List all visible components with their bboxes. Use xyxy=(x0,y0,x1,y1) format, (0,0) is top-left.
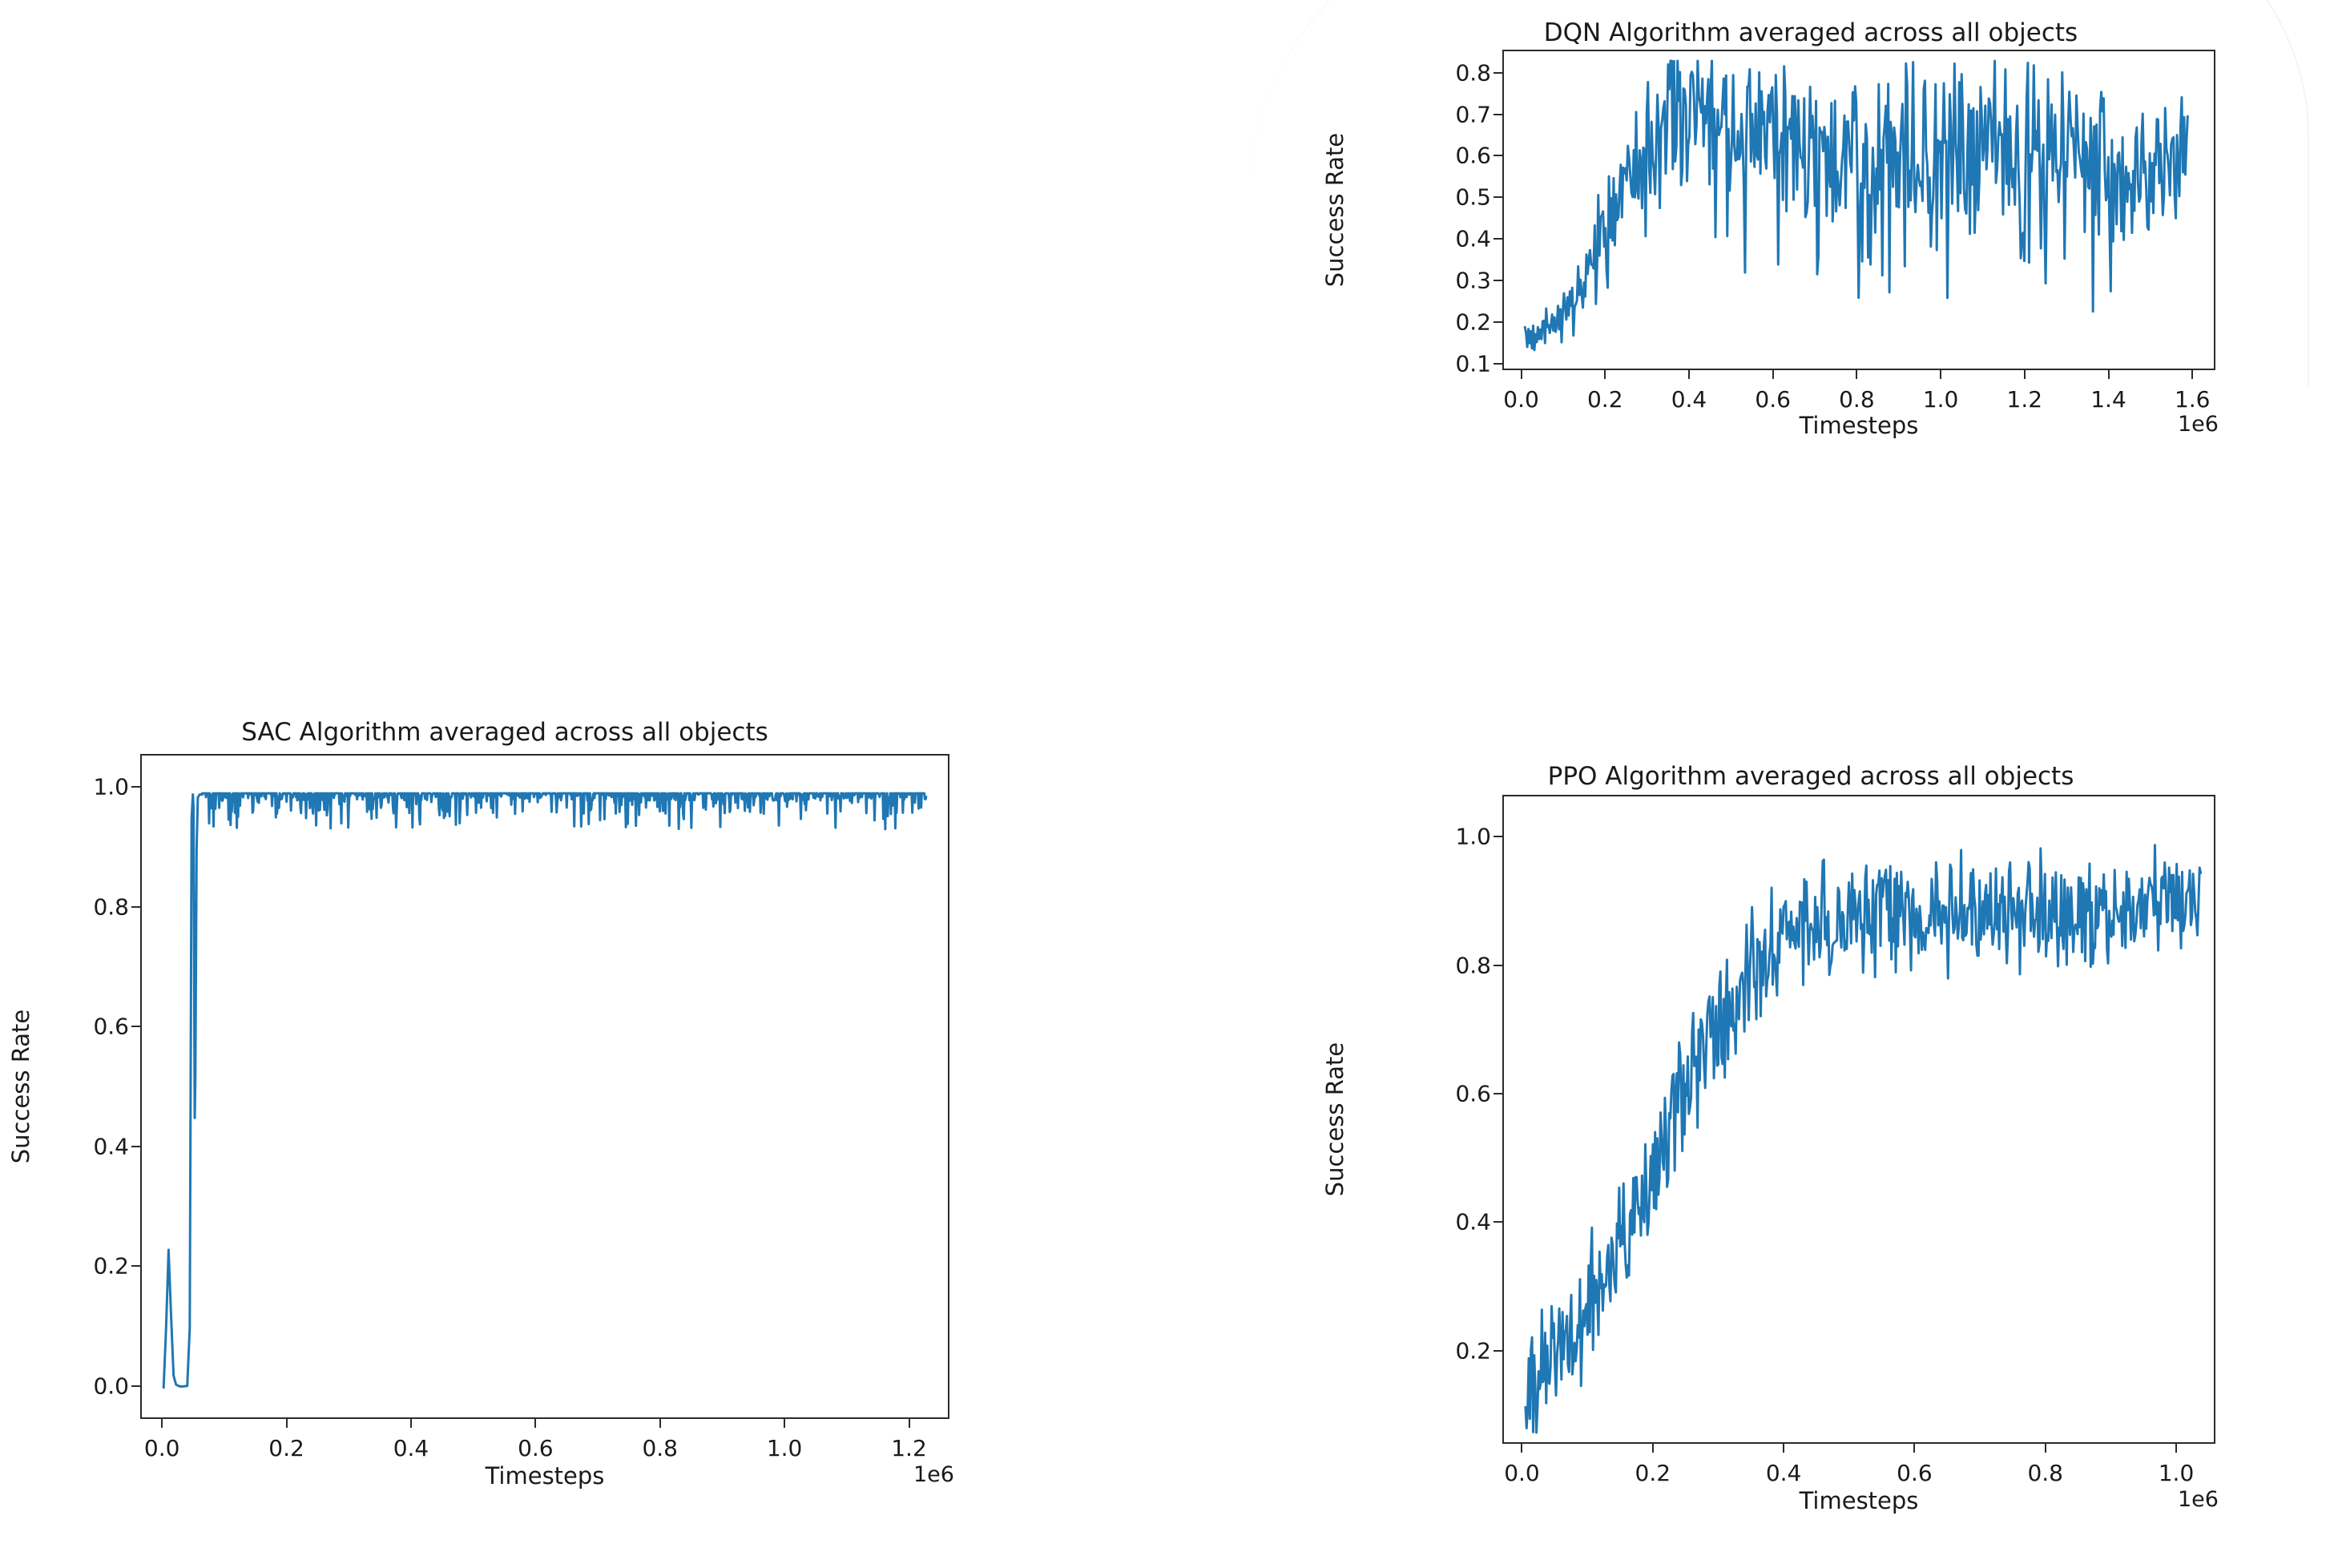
series-line-sac xyxy=(142,756,949,1419)
x-tick-label: 0.0 xyxy=(1504,1460,1540,1486)
x-tick-label: 1.6 xyxy=(2175,386,2211,413)
x-tick-mark xyxy=(1604,370,1606,379)
x-axis-offset-dqn: 1e6 xyxy=(2178,412,2219,437)
y-tick-label: 0.7 xyxy=(1455,101,1491,127)
x-tick-mark xyxy=(534,1419,536,1428)
x-tick-label: 0.2 xyxy=(268,1435,304,1461)
y-tick-label: 0.2 xyxy=(1455,309,1491,336)
y-tick-mark xyxy=(1494,1221,1502,1223)
y-tick-label: 0.4 xyxy=(93,1133,129,1159)
chart-title-ppo: PPO Algorithm averaged across all object… xyxy=(1338,761,2284,789)
x-tick-mark xyxy=(1688,370,1690,379)
x-axis-label-sac: Timesteps xyxy=(140,1462,949,1489)
x-axis-offset-ppo: 1e6 xyxy=(2178,1487,2219,1512)
x-tick-mark xyxy=(1521,1444,1522,1453)
y-axis-label-ppo: Success Rate xyxy=(1319,795,1351,1444)
y-axis-label-sac: Success Rate xyxy=(5,754,37,1419)
y-axis-ticks-ppo: 0.20.40.60.81.0 xyxy=(1414,795,1502,1444)
y-tick-mark xyxy=(1494,196,1502,198)
x-tick-label: 1.4 xyxy=(2090,386,2126,413)
x-tick-label: 0.6 xyxy=(1897,1460,1933,1486)
x-tick-mark xyxy=(286,1419,288,1428)
x-tick-label: 0.8 xyxy=(1839,386,1875,413)
y-axis-label-dqn: Success Rate xyxy=(1319,50,1351,370)
x-tick-label: 0.0 xyxy=(144,1435,180,1461)
y-tick-label: 0.3 xyxy=(1455,268,1491,294)
y-tick-mark xyxy=(131,1265,140,1267)
y-tick-mark xyxy=(1494,363,1502,365)
y-tick-mark xyxy=(131,786,140,788)
y-tick-mark xyxy=(1494,72,1502,74)
x-tick-mark xyxy=(2191,370,2193,379)
axes-ppo xyxy=(1502,795,2215,1444)
y-tick-mark xyxy=(131,1385,140,1387)
y-axis-ticks-sac: 0.00.20.40.60.81.0 xyxy=(52,754,140,1419)
y-tick-mark xyxy=(131,1026,140,1027)
x-tick-mark xyxy=(1913,1444,1915,1453)
y-tick-mark xyxy=(1494,836,1502,837)
x-tick-mark xyxy=(659,1419,661,1428)
y-tick-label: 0.6 xyxy=(1455,1080,1491,1106)
chart-panel-dqn: DQN Algorithm averaged across all object… xyxy=(1314,18,2259,402)
x-tick-label: 0.6 xyxy=(518,1435,554,1461)
x-tick-mark xyxy=(161,1419,163,1428)
series-line-dqn xyxy=(1504,51,2215,370)
x-tick-label: 0.8 xyxy=(2027,1460,2063,1486)
y-tick-mark xyxy=(1494,155,1502,156)
y-tick-mark xyxy=(1494,1350,1502,1352)
y-tick-label: 0.4 xyxy=(1455,226,1491,252)
y-tick-mark xyxy=(1494,965,1502,966)
x-tick-label: 0.4 xyxy=(1766,1460,1802,1486)
x-tick-label: 0.6 xyxy=(1755,386,1791,413)
x-tick-mark xyxy=(1783,1444,1784,1453)
y-tick-mark xyxy=(1494,238,1502,240)
y-tick-label: 0.1 xyxy=(1455,351,1491,377)
y-tick-label: 0.8 xyxy=(93,893,129,920)
plot-area-dqn: Success Rate 0.10.20.30.40.50.60.70.8 0.… xyxy=(1314,50,2259,402)
x-tick-label: 0.4 xyxy=(393,1435,429,1461)
chart-title-sac: SAC Algorithm averaged across all object… xyxy=(32,717,978,745)
y-tick-label: 0.4 xyxy=(1455,1209,1491,1235)
x-tick-label: 1.2 xyxy=(891,1435,927,1461)
y-tick-label: 1.0 xyxy=(93,774,129,800)
x-tick-mark xyxy=(1772,370,1774,379)
x-axis-label-dqn: Timesteps xyxy=(1502,412,2215,439)
x-tick-mark xyxy=(1521,370,1522,379)
y-tick-label: 0.6 xyxy=(93,1014,129,1040)
x-tick-label: 1.0 xyxy=(2159,1460,2195,1486)
x-tick-label: 0.2 xyxy=(1635,1460,1671,1486)
y-tick-label: 0.8 xyxy=(1455,59,1491,86)
x-tick-label: 1.2 xyxy=(2007,386,2043,413)
y-tick-mark xyxy=(1494,114,1502,115)
y-tick-label: 0.2 xyxy=(1455,1337,1491,1364)
x-tick-mark xyxy=(2024,370,2026,379)
x-tick-mark xyxy=(1652,1444,1654,1453)
x-tick-label: 0.8 xyxy=(642,1435,678,1461)
x-axis-label-ppo: Timesteps xyxy=(1502,1487,2215,1514)
x-tick-mark xyxy=(909,1419,910,1428)
y-tick-label: 0.5 xyxy=(1455,184,1491,211)
chart-panel-ppo: PPO Algorithm averaged across all object… xyxy=(1314,761,2259,1562)
x-tick-label: 1.0 xyxy=(767,1435,803,1461)
y-tick-label: 0.0 xyxy=(93,1373,129,1399)
x-axis-offset-sac: 1e6 xyxy=(913,1462,954,1487)
x-tick-label: 1.0 xyxy=(1923,386,1959,413)
y-tick-label: 1.0 xyxy=(1455,824,1491,850)
y-tick-mark xyxy=(1494,321,1502,323)
plot-area-sac: Success Rate 0.00.20.40.60.81.0 0.00.20.… xyxy=(0,754,1074,1491)
x-tick-mark xyxy=(2175,1444,2177,1453)
y-axis-ticks-dqn: 0.10.20.30.40.50.60.70.8 xyxy=(1414,50,1502,370)
y-tick-mark xyxy=(1494,280,1502,281)
y-tick-label: 0.6 xyxy=(1455,143,1491,169)
y-tick-label: 0.8 xyxy=(1455,952,1491,978)
x-tick-mark xyxy=(1856,370,1857,379)
x-tick-label: 0.4 xyxy=(1671,386,1707,413)
chart-panel-sac: SAC Algorithm averaged across all object… xyxy=(0,717,1074,1518)
x-tick-mark xyxy=(2045,1444,2046,1453)
y-tick-mark xyxy=(131,1146,140,1147)
x-tick-mark xyxy=(784,1419,785,1428)
x-tick-label: 0.2 xyxy=(1587,386,1623,413)
y-tick-mark xyxy=(1494,1093,1502,1094)
x-tick-mark xyxy=(2108,370,2110,379)
x-tick-label: 0.0 xyxy=(1503,386,1539,413)
axes-sac xyxy=(140,754,949,1419)
y-tick-label: 0.2 xyxy=(93,1253,129,1280)
plot-area-ppo: Success Rate 0.20.40.60.81.0 0.00.20.40.… xyxy=(1314,795,2259,1516)
series-line-ppo xyxy=(1504,796,2215,1444)
y-tick-mark xyxy=(131,906,140,908)
axes-dqn xyxy=(1502,50,2215,370)
x-tick-mark xyxy=(1940,370,1941,379)
chart-title-dqn: DQN Algorithm averaged across all object… xyxy=(1338,18,2284,46)
x-tick-mark xyxy=(410,1419,412,1428)
